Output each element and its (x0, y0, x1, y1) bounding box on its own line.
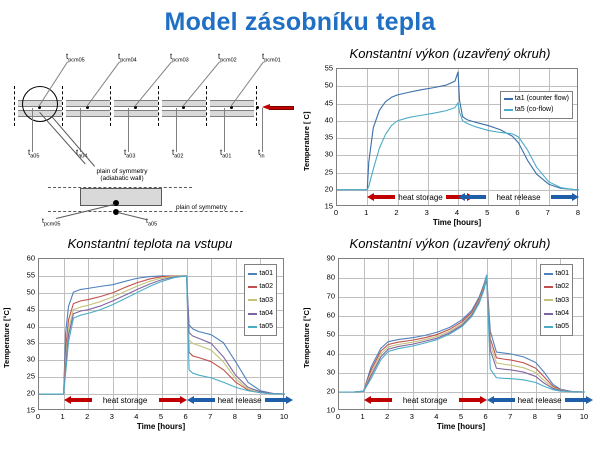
series-lines (337, 69, 579, 207)
legend-label: ta04 (259, 307, 273, 320)
y-axis-tick: 30 (27, 355, 35, 364)
y-axis-tick: 70 (327, 292, 335, 301)
x-axis-tick: 6 (515, 208, 519, 217)
x-axis-tick: 7 (546, 208, 550, 217)
y-axis-label: Temperature [°C] (2, 308, 11, 368)
heat-release-annotation: heat release (458, 192, 579, 202)
arrow-head (180, 396, 187, 404)
y-axis-tick: 15 (27, 406, 35, 415)
label-pcm-2: tpcm04 (118, 52, 137, 64)
y-axis-tick: 60 (327, 311, 335, 320)
arrow-shaft (69, 398, 92, 402)
label-pcm-3: tpcm03 (170, 52, 189, 64)
chart-title: Konstantní výkon (uzavřený okruh) (300, 236, 600, 251)
y-axis-tick: 15 (325, 202, 333, 211)
legend-label: ta01 (555, 267, 569, 280)
y-axis-tick: 55 (325, 64, 333, 73)
legend-swatch (248, 299, 257, 301)
legend-label: ta5 (co-flow) (515, 105, 554, 116)
legend-label: ta1 (counter flow) (515, 94, 569, 105)
y-axis-tick: 40 (327, 349, 335, 358)
arrow-left-icon (187, 396, 215, 405)
label-pcm-1: tpcm05 (66, 52, 85, 64)
plot-area: ta01ta02ta03ta04ta05heat storageheat rel… (38, 258, 284, 410)
arrow-head (64, 396, 71, 404)
y-axis-tick: 20 (27, 389, 35, 398)
y-axis-tick: 20 (325, 184, 333, 193)
symmetry-line-top (48, 187, 192, 188)
y-axis-tick: 45 (325, 98, 333, 107)
heat-storage-annotation: heat storage (367, 192, 458, 202)
slide-root: Model zásobníku tepla tpcm05tpcm04tpcm03… (0, 0, 600, 450)
segment-divider (62, 86, 63, 126)
legend-swatch (544, 299, 553, 301)
chart-konstantni-vykon-top: Konstantní výkon (uzavřený okruh)ta1 (co… (300, 46, 600, 231)
x-axis-tick: 5 (485, 208, 489, 217)
x-axis-label: Time [hours] (338, 422, 584, 431)
y-axis-tick: 10 (327, 406, 335, 415)
plot-area: ta1 (counter flow)ta5 (co-flow)heat stor… (336, 68, 578, 206)
legend-label: ta05 (555, 320, 569, 333)
x-axis-tick: 7 (208, 412, 212, 421)
x-axis-tick: 1 (61, 412, 65, 421)
label-air-4: ta02 (172, 148, 183, 160)
legend-swatch (544, 273, 553, 275)
chart-legend: ta01ta02ta03ta04ta05 (244, 264, 277, 336)
y-axis-label: Temperature [ C] (302, 112, 311, 171)
legend-label: ta04 (555, 307, 569, 320)
chart-title: Konstantní výkon (uzavřený okruh) (300, 46, 600, 61)
phase-band: heat storageheat release (39, 395, 285, 405)
arrow-head (262, 104, 270, 110)
y-axis-tick: 35 (27, 338, 35, 347)
chart-title: Konstantní teplota na vstupu (0, 236, 300, 251)
x-axis-tick: 6 (184, 412, 188, 421)
x-axis-tick: 0 (336, 412, 340, 421)
heat-release-label: heat release (486, 193, 551, 202)
arrow-head (487, 396, 494, 404)
x-axis-tick: 5 (459, 412, 463, 421)
arrow-right-icon (159, 396, 187, 405)
y-axis-tick: 30 (325, 150, 333, 159)
legend-item: ta04 (248, 307, 273, 320)
y-axis-tick: 45 (27, 304, 35, 313)
chart-legend: ta01ta02ta03ta04ta05 (540, 264, 573, 336)
segment-divider (206, 86, 207, 126)
inlet-node (256, 106, 259, 109)
x-axis-tick: 0 (334, 208, 338, 217)
heat-storage-label: heat storage (92, 396, 159, 405)
legend-item: ta04 (544, 307, 569, 320)
legend-swatch (248, 326, 257, 328)
y-axis-label: Temperature [°C] (302, 308, 311, 368)
arrow-shaft (265, 398, 288, 402)
arrow-shaft (565, 398, 588, 402)
leader-line-air-6 (262, 108, 263, 152)
legend-label: ta02 (259, 280, 273, 293)
leader-detail-air (118, 212, 146, 220)
arrow-head (187, 396, 194, 404)
x-axis-tick: 2 (385, 412, 389, 421)
legend-item: ta03 (544, 294, 569, 307)
heat-storage-annotation: heat storage (64, 395, 187, 405)
x-axis-tick: 4 (455, 208, 459, 217)
arrow-shaft (551, 195, 574, 199)
chart-konstantni-teplota: Konstantní teplota na vstuputa01ta02ta03… (0, 236, 300, 448)
tube-segment-lower (210, 110, 254, 117)
legend-label: ta05 (259, 320, 273, 333)
legend-swatch (504, 98, 513, 100)
leader-line-air-5 (224, 108, 225, 152)
x-axis-tick: 2 (394, 208, 398, 217)
label-air-1: ta05 (28, 148, 39, 160)
x-axis-tick: 3 (110, 412, 114, 421)
x-axis-tick: 8 (533, 412, 537, 421)
arrow-right-icon (265, 396, 293, 405)
chart-legend: ta1 (counter flow)ta5 (co-flow) (500, 91, 573, 119)
heat-release-label: heat release (215, 396, 265, 405)
x-axis-tick: 10 (280, 412, 288, 421)
legend-item: ta01 (544, 267, 569, 280)
legend-label: ta03 (555, 294, 569, 307)
symmetry-label-top: plain of symmetry(adiabatic wall) (62, 168, 182, 182)
x-axis-tick: 9 (557, 412, 561, 421)
y-axis-tick: 60 (27, 254, 35, 263)
heat-storage-schematic: tpcm05tpcm04tpcm03tpcm02tpcm01ta05ta04ta… (0, 48, 300, 228)
symmetry-label-right: plain of symmetry (176, 204, 227, 211)
legend-swatch (544, 313, 553, 315)
label-pcm-4: tpcm02 (218, 52, 237, 64)
segment-divider (110, 86, 111, 126)
arrow-shaft (269, 106, 294, 110)
arrow-shaft (459, 398, 482, 402)
plot-frame: ta01ta02ta03ta04ta05heat storageheat rel… (38, 258, 284, 410)
y-axis-tick: 40 (325, 115, 333, 124)
y-axis-tick: 90 (327, 254, 335, 263)
y-axis-tick: 25 (325, 167, 333, 176)
arrow-right-icon (459, 396, 487, 405)
x-axis-tick: 10 (580, 412, 588, 421)
legend-item: ta01 (248, 267, 273, 280)
label-air-5: ta01 (220, 148, 231, 160)
x-axis-label: Time [hours] (38, 422, 284, 431)
x-axis-tick: 8 (233, 412, 237, 421)
phase-band: heat storageheat release (339, 395, 585, 405)
legend-label: ta01 (259, 267, 273, 280)
arrow-shaft (192, 398, 215, 402)
legend-swatch (248, 313, 257, 315)
x-axis-tick: 4 (134, 412, 138, 421)
tube-segment-lower (66, 110, 110, 117)
legend-swatch (544, 286, 553, 288)
legend-swatch (544, 326, 553, 328)
arrow-left-icon (364, 396, 392, 405)
legend-swatch (248, 286, 257, 288)
label-air-3: ta03 (124, 148, 135, 160)
plot-frame: ta01ta02ta03ta04ta05heat storageheat rel… (338, 258, 584, 410)
leader-line-air-1 (32, 108, 33, 152)
y-axis-tick: 80 (327, 273, 335, 282)
arrow-left-icon (367, 193, 395, 202)
detail-label-air: ta05 (146, 218, 157, 227)
inlet-arrow-icon (262, 104, 294, 111)
arrow-shaft (463, 195, 486, 199)
chart-konstantni-vykon-bottom: Konstantní výkon (uzavřený okruh)ta01ta0… (300, 236, 600, 448)
y-axis-tick: 50 (327, 330, 335, 339)
y-axis-tick: 35 (325, 133, 333, 142)
legend-item: ta1 (counter flow) (504, 94, 569, 105)
series-line (337, 72, 579, 190)
x-axis-tick: 8 (576, 208, 580, 217)
tube-segment-lower (162, 110, 206, 117)
arrow-left-icon (487, 396, 515, 405)
segment-divider (158, 86, 159, 126)
arrow-head (586, 396, 593, 404)
adiabatic-wall-block (80, 188, 162, 206)
tube-segment-lower (114, 110, 158, 117)
legend-swatch (504, 109, 513, 111)
y-axis-tick: 20 (327, 387, 335, 396)
arrow-right-icon (551, 193, 579, 202)
x-axis-tick: 7 (508, 412, 512, 421)
legend-item: ta5 (co-flow) (504, 105, 569, 116)
arrow-head (458, 193, 465, 201)
heat-storage-label: heat storage (392, 396, 459, 405)
x-axis-tick: 3 (425, 208, 429, 217)
leader-line-air-3 (128, 108, 129, 152)
leader-zoom-connector (51, 116, 95, 167)
phase-band: heat storageheat release (337, 192, 579, 202)
legend-swatch (248, 273, 257, 275)
heat-storage-label: heat storage (395, 193, 445, 202)
x-axis-label: Time [hours] (336, 218, 578, 227)
legend-label: ta02 (555, 280, 569, 293)
y-axis-tick: 55 (27, 270, 35, 279)
plot-frame: ta1 (counter flow)ta5 (co-flow)heat stor… (336, 68, 578, 206)
y-axis-tick: 30 (327, 368, 335, 377)
arrow-left-icon (458, 193, 486, 202)
legend-item: ta05 (248, 320, 273, 333)
legend-item: ta03 (248, 294, 273, 307)
y-axis-tick: 50 (27, 287, 35, 296)
x-axis-tick: 4 (434, 412, 438, 421)
arrow-left-icon (64, 396, 92, 405)
x-axis-tick: 6 (484, 412, 488, 421)
y-axis-tick: 40 (27, 321, 35, 330)
legend-item: ta02 (544, 280, 569, 293)
x-axis-tick: 0 (36, 412, 40, 421)
heat-release-label: heat release (515, 396, 565, 405)
y-axis-tick: 25 (27, 372, 35, 381)
arrow-head (367, 193, 374, 201)
page-title: Model zásobníku tepla (0, 8, 600, 37)
x-axis-tick: 1 (364, 208, 368, 217)
x-axis-tick: 9 (257, 412, 261, 421)
arrow-shaft (159, 398, 182, 402)
legend-label: ta03 (259, 294, 273, 307)
x-axis-tick: 5 (159, 412, 163, 421)
plot-area: ta01ta02ta03ta04ta05heat storageheat rel… (338, 258, 584, 410)
segment-divider (14, 86, 15, 126)
legend-item: ta05 (544, 320, 569, 333)
arrow-head (286, 396, 293, 404)
arrow-shaft (372, 195, 395, 199)
arrow-head (480, 396, 487, 404)
leader-line-air-4 (176, 108, 177, 152)
label-pcm-5: tpcm01 (262, 52, 281, 64)
legend-item: ta02 (248, 280, 273, 293)
leader-line-air-2 (80, 108, 81, 152)
y-axis-tick: 50 (325, 81, 333, 90)
detail-label-pcm: tpcm05 (42, 218, 60, 227)
arrow-head (364, 396, 371, 404)
heat-release-annotation: heat release (487, 395, 585, 405)
x-axis-tick: 2 (85, 412, 89, 421)
arrow-head (572, 193, 579, 201)
x-axis-tick: 3 (410, 412, 414, 421)
arrow-shaft (492, 398, 515, 402)
x-axis-tick: 1 (361, 412, 365, 421)
heat-release-annotation: heat release (187, 395, 285, 405)
heat-storage-annotation: heat storage (364, 395, 487, 405)
arrow-shaft (369, 398, 392, 402)
arrow-right-icon (565, 396, 593, 405)
